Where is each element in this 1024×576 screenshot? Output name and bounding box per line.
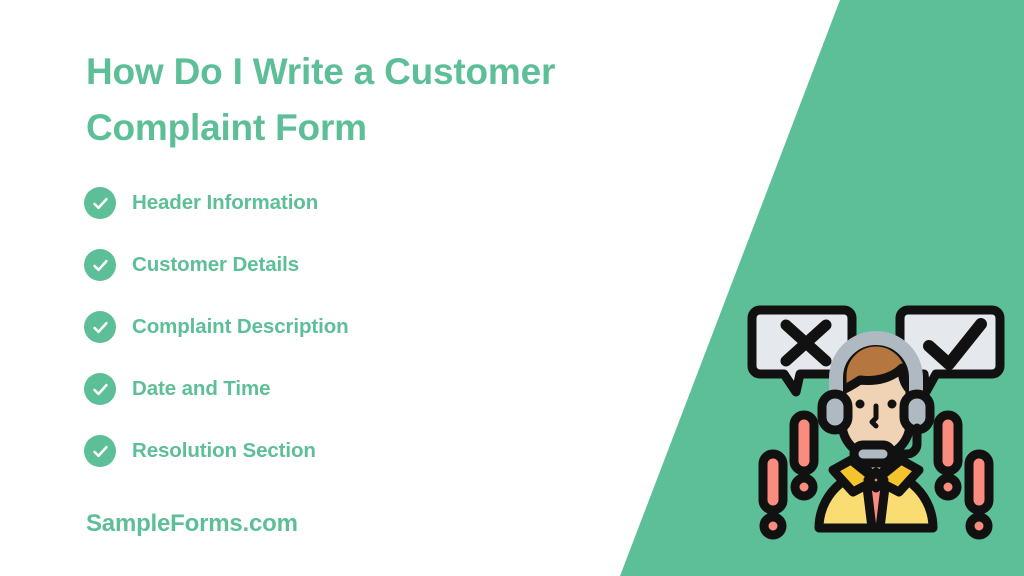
- agent-avatar: [819, 338, 933, 528]
- check-circle-icon: [84, 249, 116, 281]
- list-item-label: Customer Details: [132, 253, 299, 277]
- list-item: Header Information: [84, 186, 644, 220]
- check-circle-icon: [84, 311, 116, 343]
- customer-support-agent-illustration: [744, 282, 1008, 546]
- page-title: How Do I Write a Customer Complaint Form: [86, 44, 646, 156]
- list-item-label: Resolution Section: [132, 439, 316, 463]
- list-item: Date and Time: [84, 372, 644, 406]
- check-circle-icon: [84, 373, 116, 405]
- checklist: Header Information Customer Details Comp…: [84, 186, 644, 496]
- content-column: How Do I Write a Customer Complaint Form…: [86, 0, 646, 576]
- list-item: Complaint Description: [84, 310, 644, 344]
- brand-wordmark: SampleForms.com: [86, 510, 298, 538]
- list-item-label: Complaint Description: [132, 315, 349, 339]
- check-circle-icon: [84, 187, 116, 219]
- list-item-label: Header Information: [132, 191, 318, 215]
- list-item: Resolution Section: [84, 434, 644, 468]
- check-circle-icon: [84, 435, 116, 467]
- list-item-label: Date and Time: [132, 377, 270, 401]
- list-item: Customer Details: [84, 248, 644, 282]
